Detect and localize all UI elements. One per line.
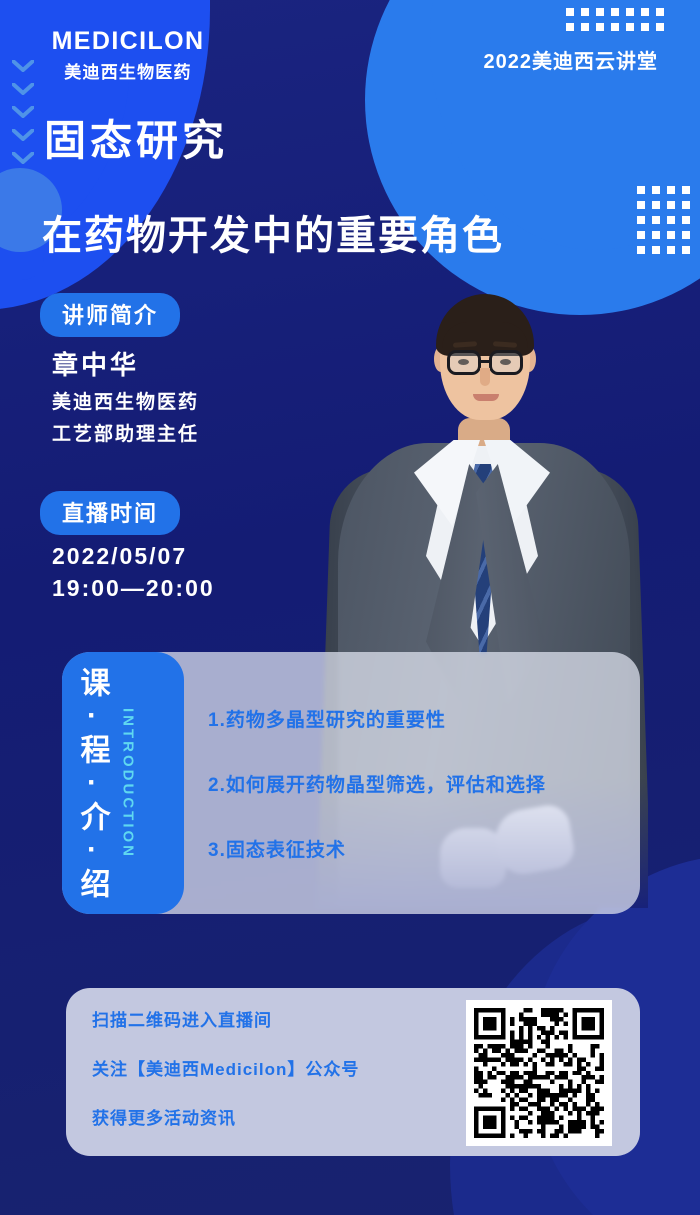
dot xyxy=(667,246,675,254)
dot xyxy=(626,23,634,31)
hair xyxy=(436,294,534,356)
qr-instruction-lines: 扫描二维码进入直播间关注【美迪西Medicilon】公众号获得更多活动资讯 xyxy=(92,1006,359,1129)
broadcast-date: 2022/05/07 xyxy=(52,543,187,570)
dot xyxy=(682,216,690,224)
brand-logo-en: MEDICILON xyxy=(38,28,218,54)
course-topic-item: 3.固态表征技术 xyxy=(208,835,628,862)
eyeglasses-bridge xyxy=(480,360,491,363)
dot xyxy=(596,8,604,16)
chevron-down-icon xyxy=(12,129,34,141)
broadcast-time-range: 19:00—20:00 xyxy=(52,575,215,602)
dot-grid-top-right xyxy=(566,8,664,31)
chevron-down-icon xyxy=(12,152,34,164)
qr-instruction-line: 扫描二维码进入直播间 xyxy=(92,1006,359,1031)
page-title: 固态研究 xyxy=(44,107,228,168)
speaker-job-title: 工艺部助理主任 xyxy=(52,419,199,446)
dot xyxy=(637,186,645,194)
dot xyxy=(652,216,660,224)
eyeglasses-lens-right xyxy=(489,350,523,375)
chevron-down-icon-group xyxy=(12,60,34,175)
dot xyxy=(611,23,619,31)
dot xyxy=(667,231,675,239)
course-topic-list: 1.药物多晶型研究的重要性2.如何展开药物晶型筛选，评估和选择3.固态表征技术 xyxy=(208,652,628,914)
dot xyxy=(596,23,604,31)
dot xyxy=(637,246,645,254)
speaker-name: 章中华 xyxy=(52,345,139,382)
dot xyxy=(652,231,660,239)
chevron-down-icon xyxy=(12,60,34,72)
chevron-down-icon xyxy=(12,106,34,118)
qr-instruction-line: 获得更多活动资讯 xyxy=(92,1104,359,1129)
dot xyxy=(611,8,619,16)
chevron-down-icon xyxy=(12,83,34,95)
dot xyxy=(667,216,675,224)
dot xyxy=(581,23,589,31)
dot xyxy=(656,23,664,31)
dot-grid-right xyxy=(637,186,690,254)
dot xyxy=(667,186,675,194)
dot xyxy=(652,246,660,254)
dot xyxy=(637,201,645,209)
dot xyxy=(581,8,589,16)
dot xyxy=(682,186,690,194)
nose xyxy=(480,368,490,386)
brand-logo-cn: 美迪西生物医药 xyxy=(38,58,218,83)
dot xyxy=(652,201,660,209)
dot xyxy=(626,8,634,16)
qr-instruction-line: 关注【美迪西Medicilon】公众号 xyxy=(92,1055,359,1080)
dot xyxy=(682,246,690,254)
speaker-organization: 美迪西生物医药 xyxy=(52,387,199,414)
series-tag: 2022美迪西云讲堂 xyxy=(484,45,659,74)
dot xyxy=(637,231,645,239)
dot xyxy=(656,8,664,16)
dot xyxy=(566,8,574,16)
dot xyxy=(667,201,675,209)
dot xyxy=(566,23,574,31)
dot xyxy=(652,186,660,194)
eyeglasses-lens-left xyxy=(447,350,481,375)
course-topic-item: 1.药物多晶型研究的重要性 xyxy=(208,705,628,732)
dot xyxy=(641,23,649,31)
dot xyxy=(637,216,645,224)
course-intro-tab-label-cn: 课·程·介·绍 xyxy=(76,667,108,900)
dot xyxy=(682,201,690,209)
qr-code-icon[interactable] xyxy=(466,1000,612,1146)
brand-logo: MEDICILON 美迪西生物医药 xyxy=(38,28,218,83)
mouth xyxy=(473,394,499,401)
dot xyxy=(682,231,690,239)
webinar-poster: MEDICILON 美迪西生物医药 2022美迪西云讲堂 固态研究 在药物开发中… xyxy=(0,0,700,1215)
speaker-section-badge: 讲师简介 xyxy=(40,293,180,337)
page-subtitle: 在药物开发中的重要角色 xyxy=(42,203,504,261)
dot xyxy=(641,8,649,16)
course-topic-item: 2.如何展开药物晶型筛选，评估和选择 xyxy=(208,770,628,797)
course-intro-tab: 课·程·介·绍 INTRODUCTION xyxy=(62,652,184,914)
broadcast-section-badge: 直播时间 xyxy=(40,491,180,535)
course-intro-tab-label-en: INTRODUCTION xyxy=(120,708,137,859)
